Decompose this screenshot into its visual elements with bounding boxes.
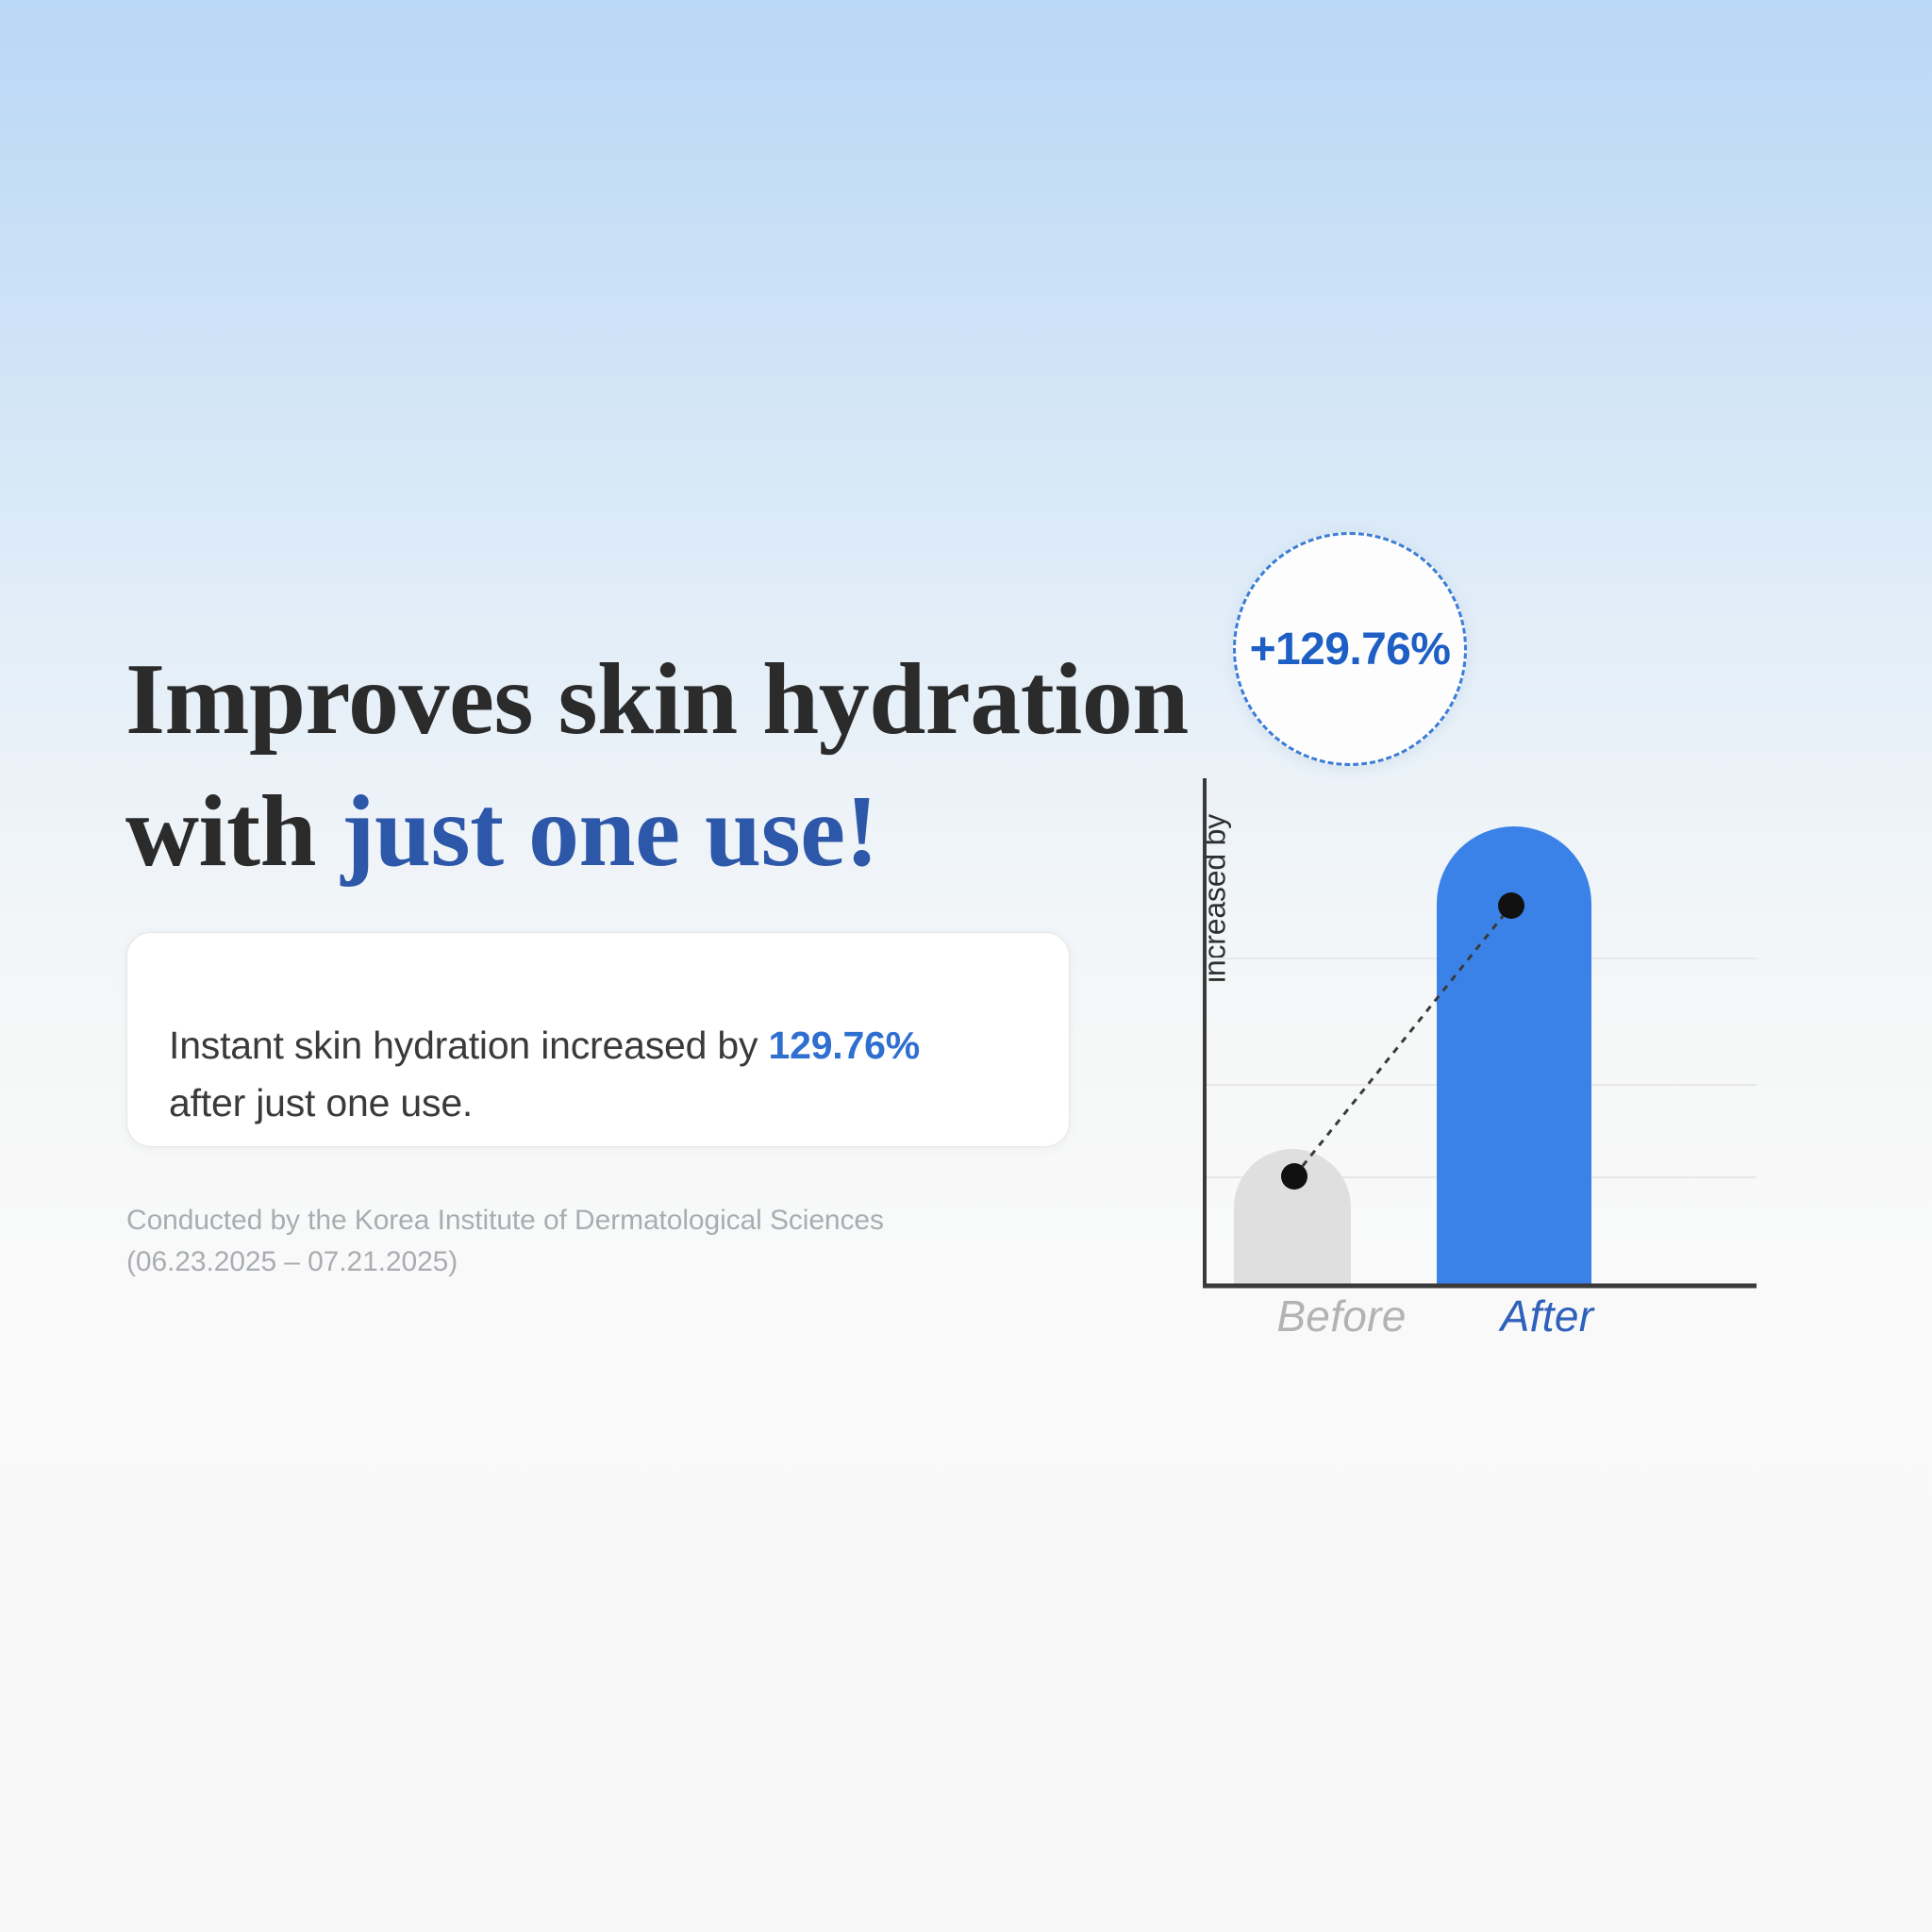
data-point-after xyxy=(1498,892,1524,919)
data-point-before xyxy=(1281,1163,1307,1190)
chart-svg xyxy=(1123,679,1802,1377)
headline-line-2-accent: just one use! xyxy=(341,775,879,888)
callout-percent-value: 129.76% xyxy=(769,1024,920,1067)
before-after-bar-chart: increased by Before After xyxy=(1123,679,1802,1377)
result-callout-card: Instant skin hydration increased by 129.… xyxy=(126,932,1070,1147)
callout-text-after: after just one use. xyxy=(169,1081,473,1124)
infographic-canvas: Improves skin hydrationwith just one use… xyxy=(0,0,1932,1932)
footnote-line-1: Conducted by the Korea Institute of Derm… xyxy=(126,1205,884,1236)
headline-line-1: Improves skin hydration xyxy=(125,643,1189,756)
increase-badge: +129.76% xyxy=(1233,532,1467,766)
increase-badge-label: +129.76% xyxy=(1250,624,1451,675)
x-tick-label-after: After xyxy=(1434,1291,1660,1341)
headline-line-2-plain: with xyxy=(125,775,341,888)
study-footnote: Conducted by the Korea Institute of Derm… xyxy=(126,1200,1070,1283)
footnote-line-2: (06.23.2025 – 07.21.2025) xyxy=(126,1246,458,1277)
x-tick-label-before: Before xyxy=(1228,1291,1455,1341)
page-title: Improves skin hydrationwith just one use… xyxy=(125,634,1257,897)
callout-text: Instant skin hydration increased by 129.… xyxy=(169,1017,1037,1131)
callout-text-before: Instant skin hydration increased by xyxy=(169,1024,769,1067)
